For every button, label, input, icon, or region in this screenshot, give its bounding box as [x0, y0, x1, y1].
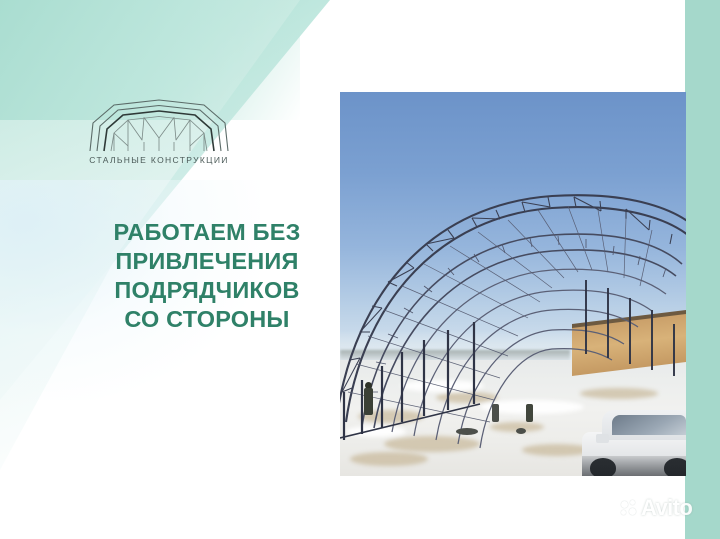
ground-post: [492, 404, 499, 422]
arched-steel-truss-logo: [84, 96, 234, 154]
hero-photo: [340, 92, 686, 476]
photo-content: [340, 92, 686, 476]
brand-logo: СТАЛЬНЫЕ КОНСТРУКЦИИ: [84, 96, 234, 174]
headline-line-1: РАБОТАЕМ БЕЗ: [78, 218, 336, 247]
foreground-shadow: [582, 456, 686, 476]
background-right-mint-strip: [685, 0, 720, 539]
avito-watermark: Avito: [621, 497, 692, 519]
headline-line-2: ПРИВЛЕЧЕНИЯ: [78, 247, 336, 276]
worker-distant: [526, 404, 533, 422]
truck-mirror: [596, 434, 609, 443]
worker: [364, 388, 373, 415]
logo-wordmark: СТАЛЬНЫЕ КОНСТРУКЦИИ: [84, 155, 234, 165]
promo-banner: СТАЛЬНЫЕ КОНСТРУКЦИИ РАБОТАЕМ БЕЗ ПРИВЛЕ…: [0, 0, 720, 539]
headline-line-4: СО СТОРОНЫ: [78, 305, 336, 334]
headline: РАБОТАЕМ БЕЗ ПРИВЛЕЧЕНИЯ ПОДРЯДЧИКОВ СО …: [78, 218, 336, 334]
ground-object: [516, 428, 526, 434]
ground-object: [456, 428, 478, 435]
avito-dots-logo: [621, 500, 638, 517]
avito-wordmark: Avito: [641, 497, 692, 519]
headline-line-3: ПОДРЯДЧИКОВ: [78, 276, 336, 305]
truck-window: [612, 415, 686, 435]
